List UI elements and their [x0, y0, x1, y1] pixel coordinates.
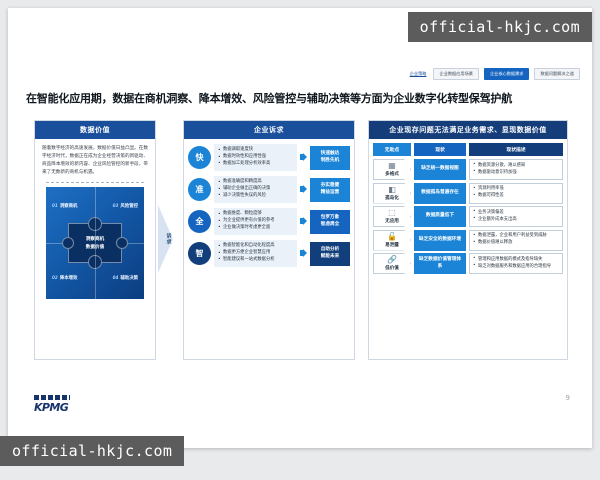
puzzle-board: 01洞察商机 03风险管控 02降本增效 04辅助决策 洞察商机	[46, 187, 144, 299]
demand-point: 数据时效性和应用性强	[218, 154, 293, 161]
arrow-right-icon	[300, 217, 307, 226]
outcome-line2: 制胜先机	[321, 158, 339, 165]
tab-data-problem-solutions[interactable]: 数据问题解决之道	[534, 68, 580, 80]
puzzle-quadrant-01-label: 洞察商机	[60, 204, 78, 209]
status-desc-cell: 数据资源分散，难以感知 数据驱动意识待加强	[469, 159, 563, 180]
status-cell: 缺乏数据价值管理体系	[414, 253, 466, 274]
puzzle-quadrant-03-label: 风险管控	[120, 204, 138, 209]
outcome-line2: 赋能未来	[321, 254, 339, 261]
demand-outcome-accurate: 夯实稳健 精益运营	[310, 178, 350, 202]
status-desc-cell: 业务决策偏差 企业额外成本支出高	[469, 206, 563, 227]
demand-points-smart: 数据智能化和自动化程度高 数据更方便企业智慧应用 智能建议和一站式数据分析	[214, 240, 297, 267]
grid-icon: ▦	[388, 162, 396, 170]
demand-points-accurate: 数据准确度和精度高 辅助企业做出正确的决策 减少决策性失误的风险	[214, 176, 297, 203]
puzzle-quadrant-02: 02降本增效	[52, 275, 77, 281]
enterprise-demands-list: 快 数据调取速度快 数据时效性和应用性强 数据加工处理分析效率高 快速触达 制胜…	[184, 139, 354, 272]
apps-icon: ⬚	[388, 209, 396, 217]
kpmg-logo: KPMG	[34, 395, 70, 414]
puzzle-knob-right-icon	[116, 237, 128, 249]
demand-point: 智能建议和一站式数据分析	[218, 257, 293, 264]
puzzle-quadrant-02-label: 降本增效	[60, 276, 78, 281]
island-icon: ◧	[388, 186, 396, 194]
outcome-line1: 夯实稳健	[321, 183, 339, 190]
demand-row-complete: 全 数据维度、颗粒度够 为企业提供更有价值的参考 企业做决策时考虑更全面 包罗万…	[188, 208, 350, 235]
desc-point: 数据泄露，企业和用户利益受到威胁	[473, 233, 559, 240]
desc-point: 管理和应用数据的模式及指导缺失	[473, 257, 559, 264]
column-header-pain: 无助点	[373, 143, 411, 156]
demand-points-fast: 数据调取速度快 数据时效性和应用性强 数据加工处理分析效率高	[214, 144, 297, 171]
pain-cell-noapp: ⬚ 无应用	[373, 206, 411, 227]
link-icon: 🔗	[387, 256, 397, 264]
connector-demand-arrow: 诉求	[158, 203, 180, 275]
page-number: 9	[566, 394, 570, 402]
demand-outcome-fast: 快速触达 制胜先机	[310, 146, 350, 170]
panel-data-value: 数据价值 随着数字经济的高速发展，数据价值日益凸显。在数字经济时代，数据正在成为…	[34, 120, 156, 360]
pain-cell-silo: ◧ 孤岛化	[373, 183, 411, 204]
puzzle-center-line2: 数据价值	[86, 244, 104, 250]
puzzle-quadrant-02-number: 02	[52, 275, 58, 280]
outcome-line1: 自助分析	[321, 247, 339, 254]
table-row: ◧ 孤岛化 数据孤岛普遍存在 资源利用率低 数据可得性差	[373, 183, 563, 204]
puzzle-quadrant-04-number: 04	[113, 275, 119, 280]
arrow-right-icon	[300, 249, 307, 258]
panel-data-value-body: 随着数字经济的高速发展，数据价值日益凸显。在数字经济时代，数据正在成为企业经营决…	[35, 139, 155, 304]
outcome-line2: 智虑周全	[321, 222, 339, 229]
panel-enterprise-demands: 企业诉求 快 数据调取速度快 数据时效性和应用性强 数据加工处理分析效率高 快速…	[183, 120, 355, 360]
data-value-description: 随着数字经济的高速发展，数据价值日益凸显。在数字经济时代，数据正在成为企业经营决…	[42, 145, 148, 177]
puzzle-quadrant-01-number: 01	[52, 203, 58, 208]
pain-label: 易泄露	[385, 242, 399, 248]
desc-point: 数据价值难以释放	[473, 240, 559, 247]
demand-row-accurate: 准 数据准确度和精度高 辅助企业做出正确的决策 减少决策性失误的风险 夯实稳健 …	[188, 176, 350, 203]
arrow-right-icon	[300, 153, 307, 162]
pain-label: 低价值	[385, 265, 399, 271]
kpmg-bars-icon	[34, 395, 70, 400]
puzzle-knob-left-icon	[62, 237, 74, 249]
demand-key-fast: 快	[188, 146, 211, 169]
demand-point: 减少决策性失误的风险	[218, 193, 293, 200]
section-nav-tabs: 企业策略 企业数据应用场景 企业核心数据需求 数据问题解决之道	[408, 68, 580, 80]
desc-point: 数据驱动意识待加强	[473, 170, 559, 177]
demand-point: 数据加工处理分析效率高	[218, 161, 293, 168]
outcome-line1: 快速触达	[321, 151, 339, 158]
demand-key-smart: 智	[188, 242, 211, 265]
demand-point: 为企业提供更有价值的参考	[218, 218, 293, 225]
panel-data-value-title: 数据价值	[35, 121, 155, 139]
puzzle-quadrant-01: 01洞察商机	[52, 203, 77, 209]
arrow-right-icon	[300, 185, 307, 194]
demand-points-complete: 数据维度、颗粒度够 为企业提供更有价值的参考 企业做决策时考虑更全面	[214, 208, 297, 235]
puzzle-quadrant-03-number: 03	[113, 203, 119, 208]
status-desc-cell: 资源利用率低 数据可得性差	[469, 183, 563, 204]
puzzle-quadrant-04: 04辅助决策	[113, 275, 138, 281]
puzzle-center-line1: 洞察商机	[86, 236, 104, 242]
status-cell: 缺乏安全的数据环境	[414, 230, 466, 251]
pain-label: 无应用	[385, 218, 399, 224]
demand-key-complete: 全	[188, 210, 211, 233]
status-cell: 数据孤岛普遍存在	[414, 183, 466, 204]
demand-key-accurate: 准	[188, 178, 211, 201]
demand-point: 企业做决策时考虑更全面	[218, 225, 293, 232]
pain-cell-multiformat: ▦ 多格式	[373, 159, 411, 180]
puzzle-diagram: 01洞察商机 03风险管控 02降本增效 04辅助决策 洞察商机	[46, 182, 144, 300]
watermark-bottom: official-hkjc.com	[0, 436, 184, 466]
demand-row-fast: 快 数据调取速度快 数据时效性和应用性强 数据加工处理分析效率高 快速触达 制胜…	[188, 144, 350, 171]
status-cell: 数据质量低下	[414, 206, 466, 227]
table-row: ⬚ 无应用 数据质量低下 业务决策偏差 企业额外成本支出高	[373, 206, 563, 227]
table-row: 🔗 低价值 缺乏数据价值管理体系 管理和应用数据的模式及指导缺失 缺乏对数据服务…	[373, 253, 563, 274]
pain-label: 孤岛化	[385, 195, 399, 201]
demand-outcome-complete: 包罗万象 智虑周全	[310, 210, 350, 234]
outcome-line1: 包罗万象	[321, 215, 339, 222]
status-desc-cell: 数据泄露，企业和用户利益受到威胁 数据价值难以释放	[469, 230, 563, 251]
unlock-icon: 🔓	[387, 233, 397, 241]
pain-label: 多格式	[385, 171, 399, 177]
puzzle-quadrant-03: 03风险管控	[113, 203, 138, 209]
puzzle-quadrant-04-label: 辅助决策	[120, 276, 138, 281]
pain-cell-leak: 🔓 易泄露	[373, 230, 411, 251]
demand-point: 数据更方便企业智慧应用	[218, 250, 293, 257]
demand-point: 辅助企业做出正确的决策	[218, 186, 293, 193]
panel-enterprise-demands-title: 企业诉求	[184, 121, 354, 139]
status-cell: 缺乏统一数据视图	[414, 159, 466, 180]
desc-point: 数据资源分散，难以感知	[473, 163, 559, 170]
outcome-line2: 精益运营	[321, 190, 339, 197]
desc-point: 缺乏对数据服务和数据应用的合理指导	[473, 264, 559, 271]
tab-enterprise-strategy[interactable]: 企业策略	[408, 69, 429, 79]
table-row: ▦ 多格式 缺乏统一数据视图 数据资源分散，难以感知 数据驱动意识待加强	[373, 159, 563, 180]
desc-point: 资源利用率低	[473, 186, 559, 193]
problems-table: 无助点 现状 现状描述 ▦ 多格式 缺乏统一数据视图 数据资源分散，难以感知 数…	[369, 139, 567, 280]
column-header-status-desc: 现状描述	[469, 143, 563, 156]
pain-cell-lowvalue: 🔗 低价值	[373, 253, 411, 274]
status-desc-cell: 管理和应用数据的模式及指导缺失 缺乏对数据服务和数据应用的合理指导	[469, 253, 563, 274]
desc-point: 企业额外成本支出高	[473, 217, 559, 224]
problems-table-header: 无助点 现状 现状描述	[373, 143, 563, 156]
panel-existing-problems: 企业现存问题无法满足业务需求、显现数据价值 无助点 现状 现状描述 ▦ 多格式 …	[368, 120, 568, 360]
desc-point: 业务决策偏差	[473, 210, 559, 217]
puzzle-center-piece: 洞察商机 数据价值	[68, 223, 122, 263]
table-row: 🔓 易泄露 缺乏安全的数据环境 数据泄露，企业和用户利益受到威胁 数据价值难以释…	[373, 230, 563, 251]
watermark-top: official-hkjc.com	[408, 12, 592, 42]
desc-point: 数据可得性差	[473, 193, 559, 200]
connector-label: 诉求	[166, 233, 173, 245]
page-title: 在智能化应用期，数据在商机洞察、降本增效、风险管控与辅助决策等方面为企业数字化转…	[26, 90, 576, 106]
tab-data-use-cases[interactable]: 企业数据应用场景	[433, 68, 479, 80]
demand-row-smart: 智 数据智能化和自动化程度高 数据更方便企业智慧应用 智能建议和一站式数据分析 …	[188, 240, 350, 267]
slide-canvas: 企业策略 企业数据应用场景 企业核心数据需求 数据问题解决之道 在智能化应用期，…	[8, 8, 592, 448]
demand-outcome-smart: 自助分析 赋能未来	[310, 242, 350, 266]
panel-existing-problems-title: 企业现存问题无法满足业务需求、显现数据价值	[369, 121, 567, 139]
column-header-status: 现状	[414, 143, 466, 156]
kpmg-wordmark: KPMG	[34, 401, 68, 414]
tab-core-data-needs[interactable]: 企业核心数据需求	[484, 68, 530, 80]
